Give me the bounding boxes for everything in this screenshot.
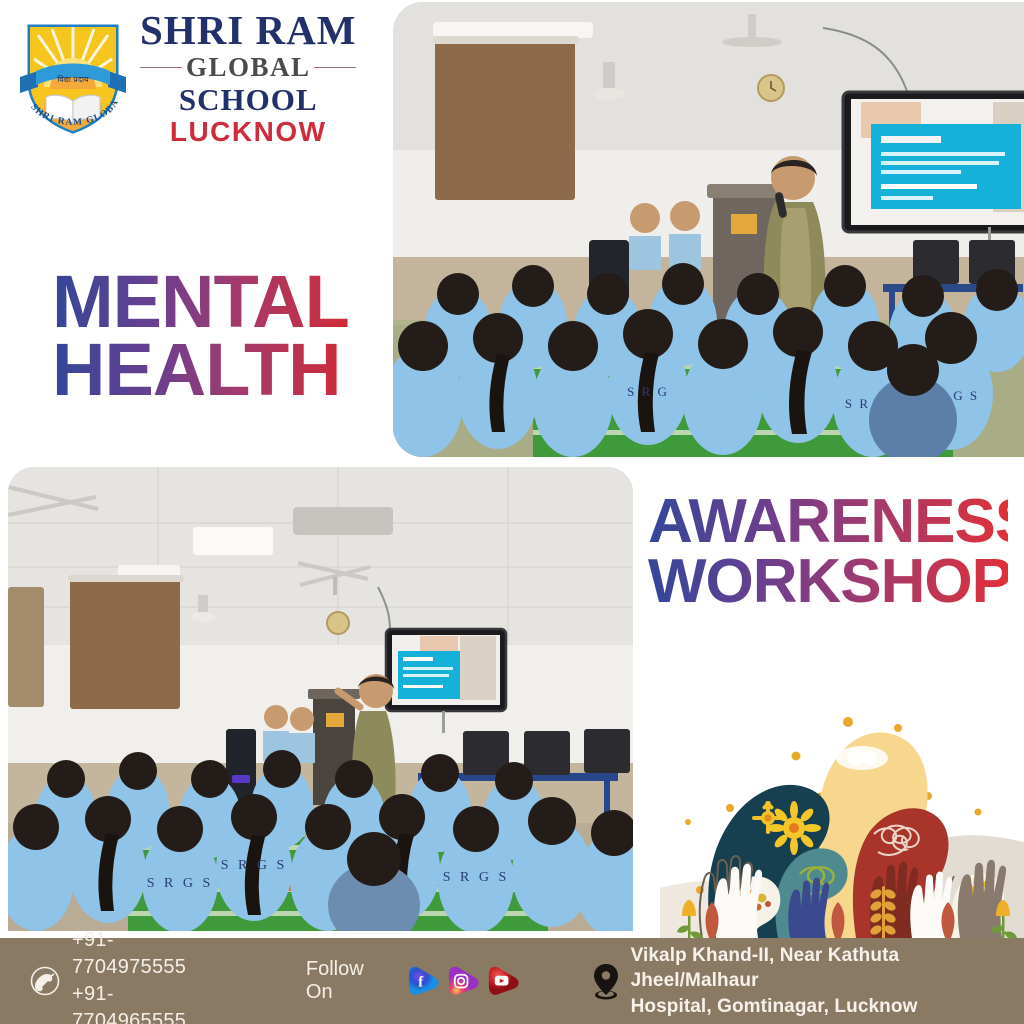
youtube-icon[interactable] (486, 966, 519, 996)
phone-number-1[interactable]: +91- 7704975555 (72, 927, 230, 981)
headline-right-line-1: AWARENESS (648, 492, 1008, 552)
poster-canvas: विद्या प्रदाय SHRI RAM GLOBAL SCHOOL SHR… (0, 0, 1024, 1024)
address-lines: Vikalp Khand-II, Near Kathuta Jheel/Malh… (631, 943, 1024, 1020)
svg-text:S R G S: S R G S (147, 876, 214, 891)
photo-speaker-at-podium: S R G S S R G S S R G (393, 2, 1024, 457)
facebook-icon[interactable]: f (406, 966, 439, 996)
logo-rule-right (314, 67, 356, 69)
svg-text:S R G: S R G (627, 384, 669, 399)
logo-line-global: GLOBAL (182, 54, 315, 81)
phone-icon (28, 964, 62, 998)
phone-numbers[interactable]: +91- 7704975555 +91- 7704965555 (72, 927, 230, 1024)
logo-line-school: SCHOOL (179, 84, 318, 115)
phone-number-2[interactable]: +91- 7704965555 (72, 981, 230, 1024)
school-logo: विद्या प्रदाय SHRI RAM GLOBAL SCHOOL SHR… (14, 8, 374, 148)
address-line-2: Hospital, Gomtinagar, Lucknow (631, 994, 1024, 1020)
logo-line-lucknow: LUCKNOW (170, 118, 327, 146)
headline-left-line-2: HEALTH (52, 336, 349, 404)
logo-line-global-row: GLOBAL (140, 54, 356, 81)
follow-on-label: Follow On (306, 958, 394, 1004)
headline-right-line-2: WORKSHOP (648, 552, 1008, 612)
headline-awareness-workshop: AWARENESS WORKSHOP (648, 492, 1008, 611)
footer-address-group: Vikalp Khand-II, Near Kathuta Jheel/Malh… (591, 943, 1024, 1020)
school-logo-wordmark: SHRI RAM GLOBAL SCHOOL LUCKNOW (140, 10, 356, 146)
headline-left-line-1: MENTAL (52, 268, 349, 336)
address-line-1: Vikalp Khand-II, Near Kathuta Jheel/Malh… (631, 943, 1024, 994)
instagram-icon[interactable] (446, 966, 479, 996)
logo-rule-left (140, 67, 182, 69)
headline-mental-health: MENTAL HEALTH (52, 268, 349, 404)
mental-health-illustration (660, 700, 1024, 940)
school-crest-icon: विद्या प्रदाय SHRI RAM GLOBAL SCHOOL (14, 15, 132, 141)
logo-line-shri-ram: SHRI RAM (140, 10, 356, 51)
footer-phone-group: +91- 7704975555 +91- 7704965555 (28, 927, 230, 1024)
location-pin-icon (591, 962, 621, 1000)
svg-text:S R G S: S R G S (221, 858, 288, 873)
crest-motto-text: विद्या प्रदाय (57, 74, 89, 84)
svg-text:S R G S: S R G S (443, 870, 510, 885)
photo-classroom-wide: S R G S S R G S S R G S (8, 467, 633, 931)
footer-follow-group: Follow On f (306, 958, 527, 1004)
footer-contact-bar: +91- 7704975555 +91- 7704965555 Follow O… (0, 938, 1024, 1024)
